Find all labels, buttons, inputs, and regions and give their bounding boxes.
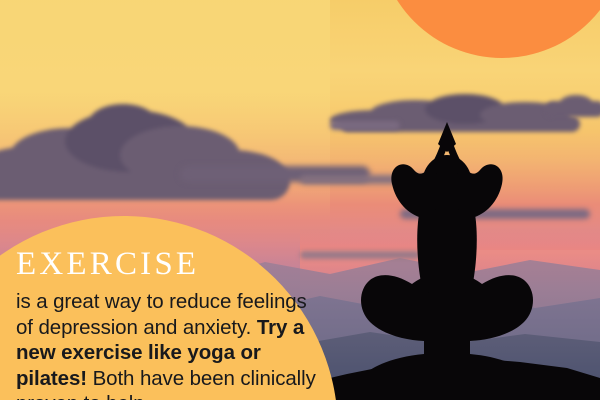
cloud-small-far-right bbox=[545, 95, 600, 121]
poster-canvas: EXERCISE is a great way to reduce feelin… bbox=[0, 0, 600, 400]
text-block: EXERCISE is a great way to reduce feelin… bbox=[16, 244, 328, 400]
cloud-bank-large bbox=[0, 100, 300, 200]
page-title: EXERCISE bbox=[16, 244, 328, 284]
meditating-person-silhouette-icon bbox=[352, 122, 542, 370]
body-paragraph: is a great way to reduce feelings of dep… bbox=[16, 289, 328, 400]
